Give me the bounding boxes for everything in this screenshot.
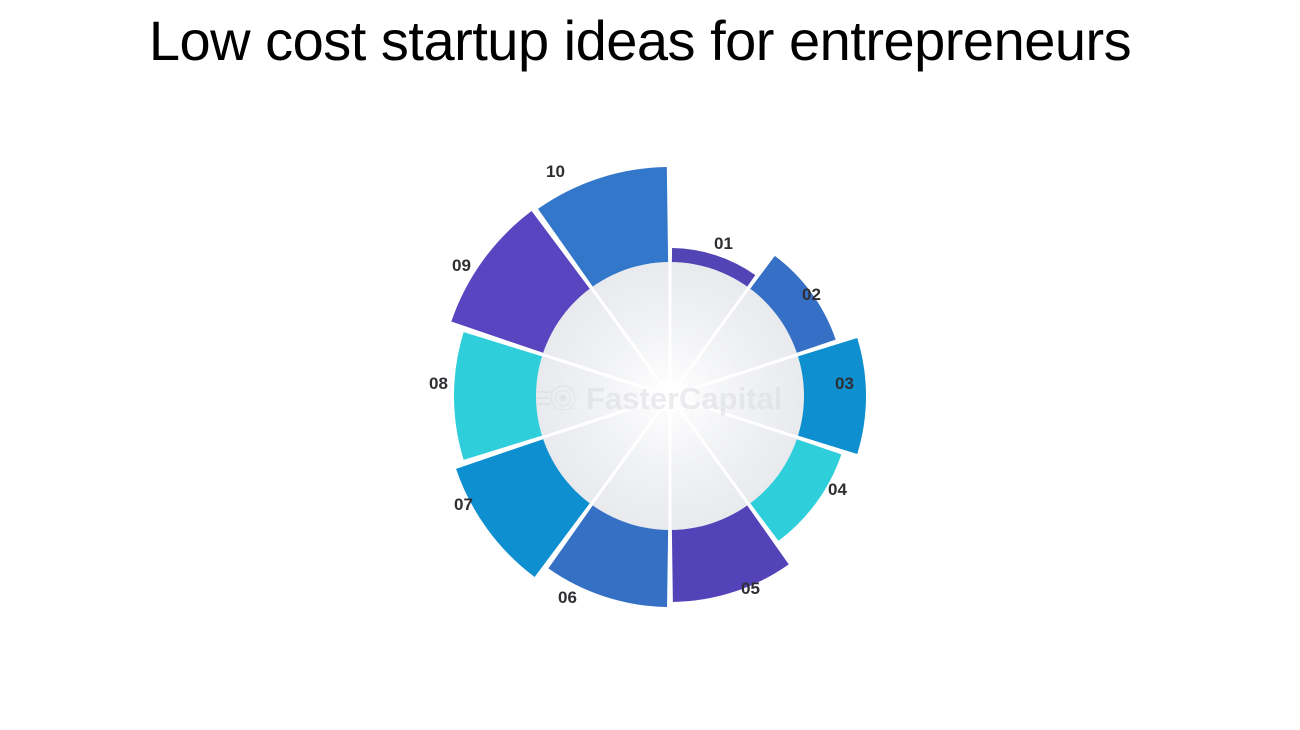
chart-segment-03[interactable] [795, 338, 866, 454]
segment-number-10: 10 [546, 163, 565, 180]
chart-hub [654, 380, 686, 412]
segment-number-09: 09 [452, 257, 471, 274]
chart-segment-08[interactable] [454, 332, 545, 460]
segment-number-04: 04 [828, 481, 847, 498]
segment-number-05: 05 [741, 580, 760, 597]
segment-number-01: 01 [714, 235, 733, 252]
segment-number-03: 03 [835, 375, 854, 392]
segment-number-06: 06 [558, 589, 577, 606]
infographic-canvas: Low cost startup ideas for entrepreneurs… [0, 0, 1300, 730]
segment-number-07: 07 [454, 496, 473, 513]
segment-number-08: 08 [429, 375, 448, 392]
radial-donut-chart [0, 0, 1300, 730]
segment-number-02: 02 [802, 286, 821, 303]
